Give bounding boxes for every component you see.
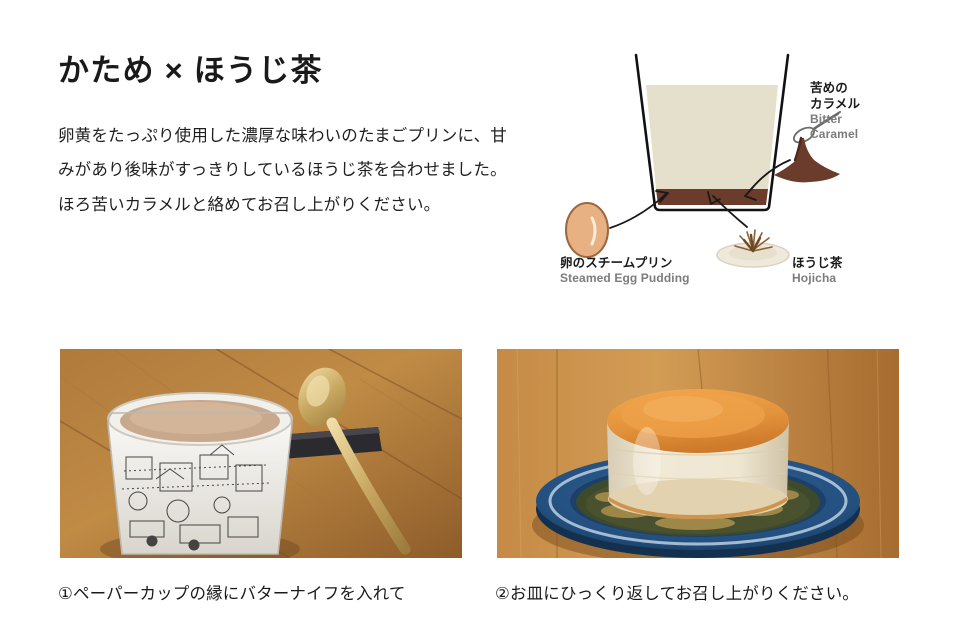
hojicha-illustration [717, 230, 789, 267]
text-column: かため × ほうじ茶 卵黄をたっぷり使用した濃厚な味わいのたまごプリンに、甘みが… [58, 52, 538, 223]
step-1-caption: ①ペーパーカップの縁にバターナイフを入れて [58, 580, 406, 604]
paper-cup [108, 393, 292, 554]
label-hojicha: ほうじ茶 Hojicha [792, 255, 843, 286]
plated-pudding-photo-illustration [497, 349, 899, 558]
label-hojicha-ja: ほうじ茶 [792, 255, 843, 271]
product-page: かため × ほうじ茶 卵黄をたっぷり使用した濃厚な味わいのたまごプリンに、甘みが… [0, 0, 960, 640]
label-caramel-en-line1: Bitter [810, 112, 860, 127]
cup-illustration [636, 55, 788, 210]
pudding-cream-fill [646, 85, 778, 189]
caramel-puddle [774, 138, 840, 182]
label-caramel-en-line2: Caramel [810, 127, 860, 142]
label-caramel-ja-line2: カラメル [810, 96, 860, 112]
step-1-photo [60, 349, 462, 558]
label-pudding-ja: 卵のスチームプリン [560, 255, 690, 271]
label-steamed-egg-pudding: 卵のスチームプリン Steamed Egg Pudding [560, 255, 690, 286]
label-hojicha-en: Hojicha [792, 271, 843, 286]
ingredient-diagram: 苦めの カラメル Bitter Caramel 卵のスチームプリン Steame… [548, 50, 948, 305]
label-bitter-caramel: 苦めの カラメル Bitter Caramel [810, 80, 860, 143]
egg-illustration [566, 203, 608, 257]
flan [607, 389, 789, 519]
step-2-caption: ②お皿にひっくり返してお召し上がりください。 [495, 580, 859, 604]
page-title: かため × ほうじ茶 [58, 52, 538, 91]
paper-cup-photo-illustration [60, 349, 462, 558]
step-2-photo [497, 349, 899, 558]
label-pudding-en: Steamed Egg Pudding [560, 271, 690, 286]
product-description: 卵黄をたっぷり使用した濃厚な味わいのたまごプリンに、甘みがあり後味がすっきりして… [58, 119, 520, 223]
label-caramel-ja-line1: 苦めの [810, 80, 860, 96]
